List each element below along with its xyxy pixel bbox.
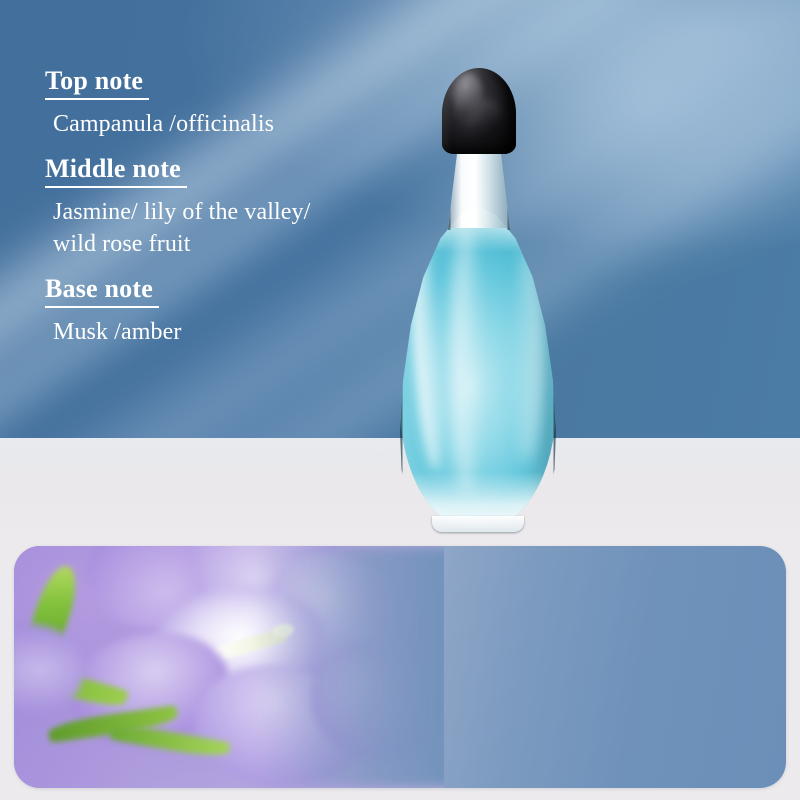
perfume-bottle [396, 68, 560, 536]
note-body-base: Musk /amber [45, 317, 390, 349]
note-block-middle: Middle note Jasmine/ lily of the valley/… [45, 154, 390, 260]
note-block-top: Top note Campanula /officinalis [45, 66, 390, 140]
note-heading-middle: Middle note [45, 154, 187, 188]
brand-banner: Bluebell 蓝风铃 [14, 546, 786, 788]
note-line: Campanula /officinalis [53, 109, 390, 141]
glass-highlight-right [510, 252, 544, 462]
product-poster: Top note Campanula /officinalis Middle n… [0, 0, 800, 800]
note-body-middle: Jasmine/ lily of the valley/ wild rose f… [45, 197, 390, 260]
note-body-top: Campanula /officinalis [45, 109, 390, 141]
glass-highlight-left [406, 231, 449, 470]
note-heading-base: Base note [45, 274, 159, 308]
bottle-body [400, 206, 556, 528]
photo-fade [254, 546, 444, 788]
separator-band [0, 438, 800, 548]
bottle-neck-edge [448, 146, 510, 230]
note-heading-top: Top note [45, 66, 149, 100]
note-line: wild rose fruit [53, 229, 390, 261]
fragrance-notes: Top note Campanula /officinalis Middle n… [45, 66, 390, 363]
bluebell-flower-photo [14, 546, 444, 788]
bottle-foot [432, 516, 524, 532]
note-block-base: Base note Musk /amber [45, 274, 390, 348]
note-line: Jasmine/ lily of the valley/ [53, 197, 390, 229]
bottle-cap [442, 68, 516, 154]
glass-highlight-center [452, 216, 482, 496]
note-line: Musk /amber [53, 317, 390, 349]
